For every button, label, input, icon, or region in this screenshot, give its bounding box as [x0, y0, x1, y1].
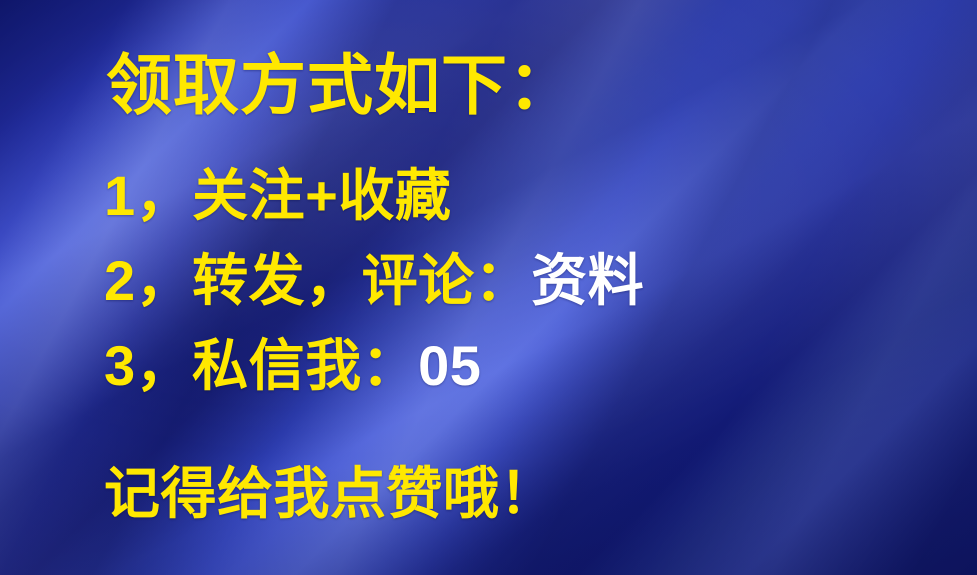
- instruction-step-3: 3，私信我：05: [104, 338, 481, 394]
- instruction-step-2-main: 2，转发，评论：: [104, 249, 531, 312]
- instruction-step-2: 2，转发，评论：资料: [104, 253, 644, 309]
- instruction-step-1-main: 1，关注+收藏: [104, 164, 451, 227]
- footer-call-to-action: 记得给我点赞哦！: [104, 466, 556, 522]
- instruction-step-2-highlight: 资料: [531, 249, 644, 312]
- page-title: 领取方式如下：: [106, 52, 575, 118]
- instruction-step-3-main: 3，私信我：: [104, 334, 418, 397]
- poster-text-content: 领取方式如下： 1，关注+收藏 2，转发，评论：资料 3，私信我：05 记得给我…: [0, 0, 977, 575]
- instruction-step-3-highlight: 05: [418, 334, 481, 397]
- instruction-step-1: 1，关注+收藏: [104, 168, 451, 224]
- promo-poster: 领取方式如下： 1，关注+收藏 2，转发，评论：资料 3，私信我：05 记得给我…: [0, 0, 977, 575]
